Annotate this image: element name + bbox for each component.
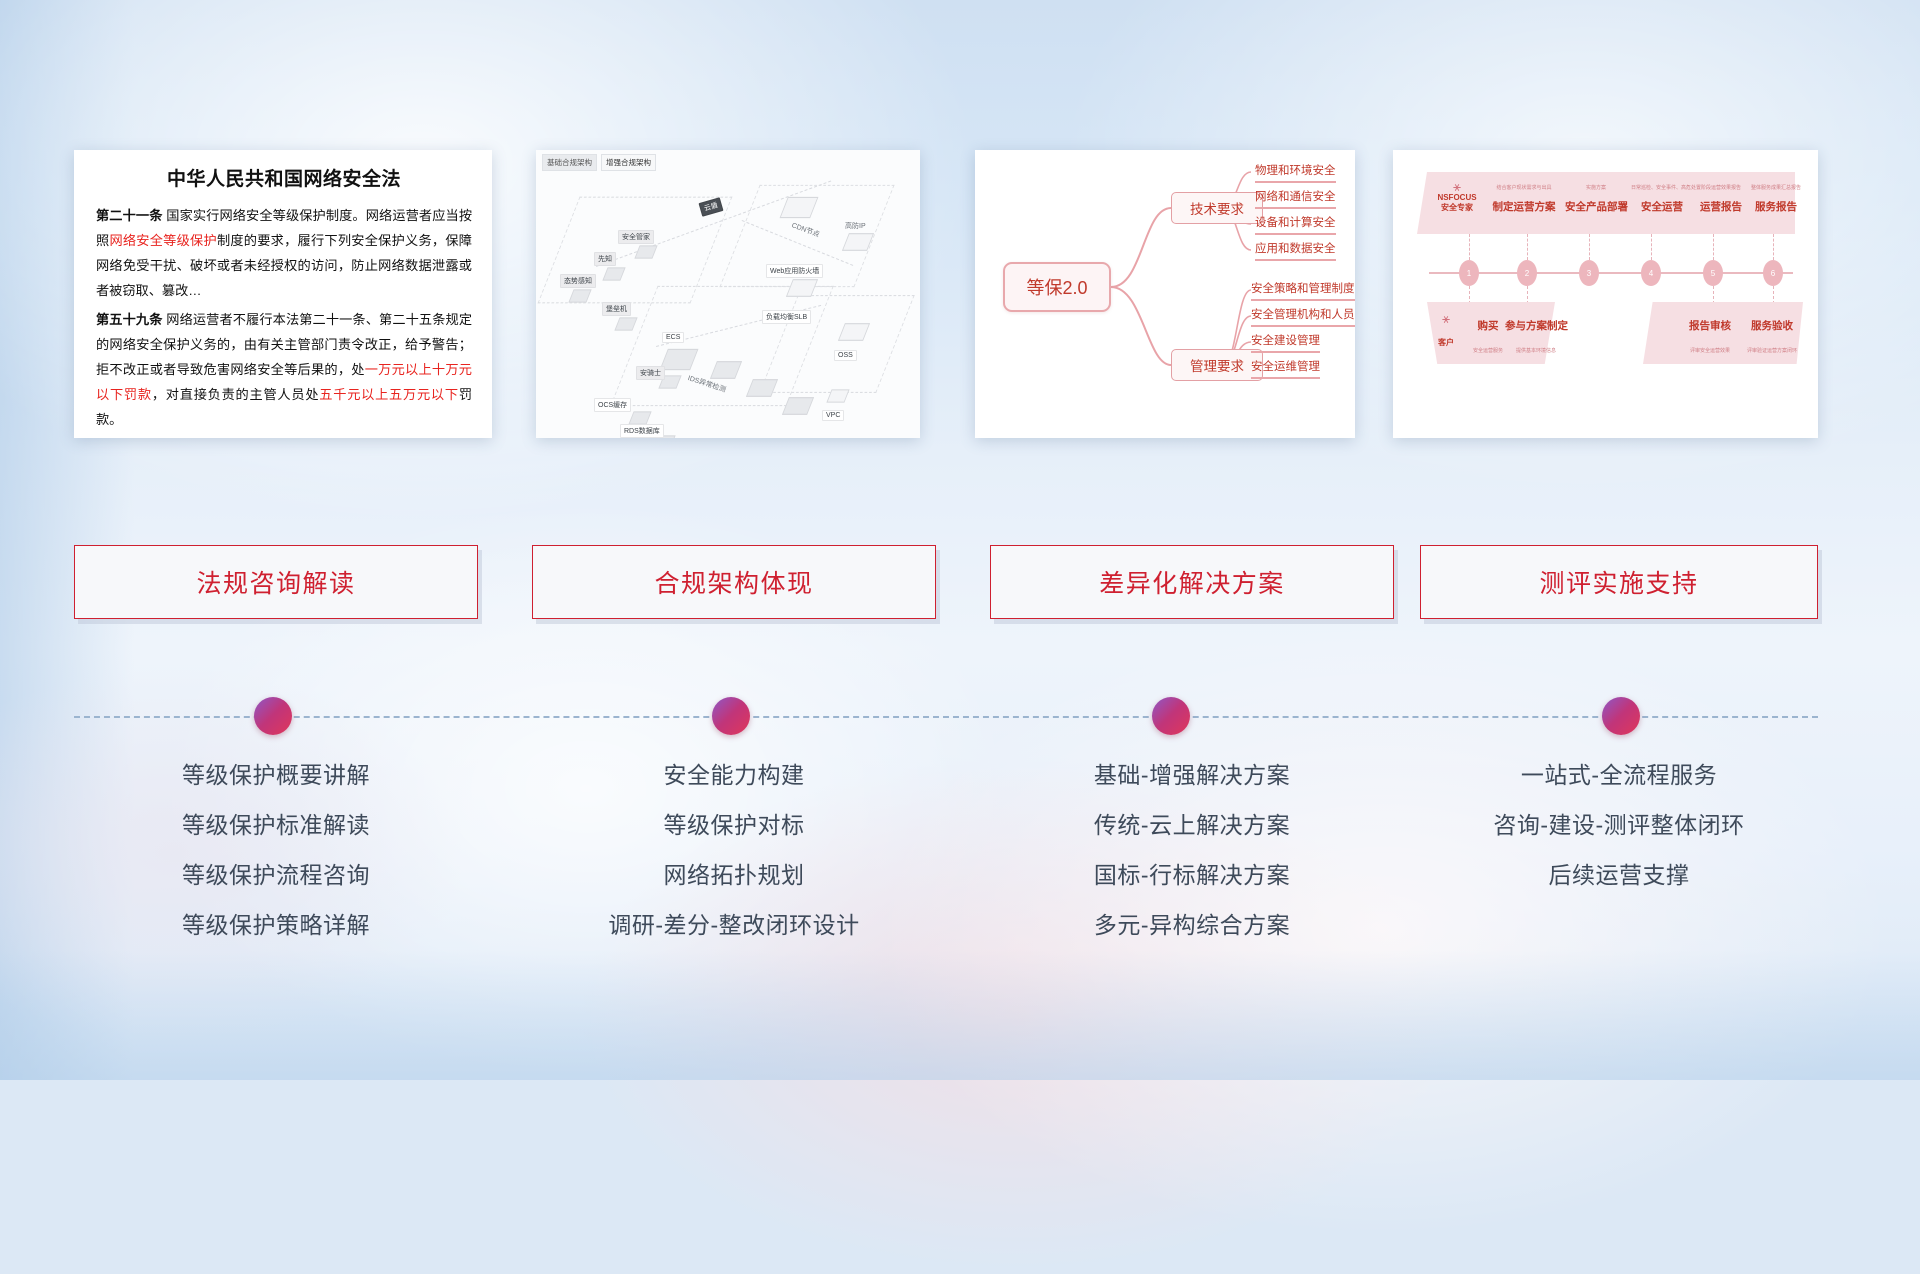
card-cybersecurity-law[interactable]: 中华人民共和国网络安全法 第二十一条 国家实行网络安全等级保护制度。网络运营者应… (74, 150, 492, 438)
operations-dash-5 (1713, 234, 1714, 260)
operations-top-step-2-main: 安全产品部署 (1565, 199, 1627, 214)
detail-column-4: 一站式-全流程服务 咨询-建设-测评整体闭环 后续运营支撑 (1420, 750, 1818, 900)
list-item: 传统-云上解决方案 (990, 800, 1394, 850)
operations-top-step-4: 阶段运营效果报告 运营报告 (1693, 184, 1749, 214)
detail-column-3: 基础-增强解决方案 传统-云上解决方案 国标-行标解决方案 多元-异构综合方案 (990, 750, 1394, 950)
detail-column-1: 等级保护概要讲解 等级保护标准解读 等级保护流程咨询 等级保护策略详解 (74, 750, 478, 950)
architecture-shape-group-c (782, 397, 814, 415)
operations-top-step-1-main: 制定运营方案 (1489, 199, 1559, 214)
architecture-node-anqishi: 安骑士 (636, 366, 665, 380)
operations-dash-2 (1527, 234, 1528, 260)
architecture-node-oss: OSS (834, 350, 857, 361)
list-item: 等级保护标准解读 (74, 800, 478, 850)
timeline-node-2[interactable] (712, 697, 750, 735)
screenshot-card-row: 中华人民共和国网络安全法 第二十一条 国家实行网络安全等级保护制度。网络运营者应… (0, 150, 1920, 440)
law-document: 中华人民共和国网络安全法 第二十一条 国家实行网络安全等级保护制度。网络运营者应… (74, 150, 492, 432)
operations-top-step-4-main: 运营报告 (1693, 199, 1749, 214)
operations-dash-6 (1773, 234, 1774, 260)
architecture-node-situation: 态势感知 (560, 274, 596, 288)
operations-top-step-5: 整体服务成果汇总报告 服务报告 (1749, 184, 1803, 214)
list-item: 等级保护流程咨询 (74, 850, 478, 900)
mindmap-leaf-physical: 物理和环境安全 (1255, 162, 1336, 183)
operations-top-step-1: 结合客户现状需求与出具 制定运营方案 (1489, 184, 1559, 214)
list-item: 咨询-建设-测评整体闭环 (1420, 800, 1818, 850)
operations-bottom-step-3-main: 报告审核 (1681, 318, 1739, 333)
architecture-node-butler: 安全管家 (618, 230, 654, 244)
mindmap-branch-technical: 技术要求 (1171, 192, 1263, 224)
operations-top-step-2-sub: 实施方案 (1565, 184, 1627, 191)
operations-bottom-step-3-sub: 评审安全运营效果 (1681, 347, 1739, 354)
mindmap-leaf-policy: 安全策略和管理制度 (1251, 280, 1355, 301)
customer-role-label: 客户 (1427, 337, 1465, 348)
law-article-59-label: 第五十九条 (96, 312, 163, 327)
timeline-dashed-line (74, 716, 1818, 718)
section-title-box-1[interactable]: 法规咨询解读 (74, 545, 478, 619)
card-compliance-architecture[interactable]: 基础合规架构 增强合规架构 态势感知 先知 安全管家 (536, 150, 920, 438)
operations-bottom-step-2-main: 参与方案制定 (1505, 318, 1567, 333)
operations-expert-role: ⚹ NSFOCUS 安全专家 (1427, 180, 1487, 213)
list-item: 后续运营支撑 (1420, 850, 1818, 900)
mindmap-root-node: 等保2.0 (1003, 262, 1111, 312)
architecture-node-vpc: VPC (822, 410, 844, 421)
operations-top-step-2: 实施方案 安全产品部署 (1565, 184, 1627, 214)
operations-bubble-3: 3 (1579, 260, 1599, 286)
operations-bubble-2: 2 (1517, 260, 1537, 286)
architecture-shape-ocs (628, 411, 651, 424)
mindmap: 等保2.0 技术要求 管理要求 物理和环境安全 网络和通信安全 设备和计算安全 … (975, 150, 1355, 438)
operations-top-step-3: 日常巡检、安全事件、高危处置 安全运营 (1631, 184, 1693, 214)
mindmap-leaf-org: 安全管理机构和人员 (1251, 306, 1355, 327)
list-item: 等级保护对标 (532, 800, 936, 850)
operations-top-step-1-sub: 结合客户现状需求与出具 (1489, 184, 1559, 191)
list-item: 等级保护策略详解 (74, 900, 478, 950)
architecture-node-rds: RDS数据库 (620, 424, 664, 438)
section-title-4: 测评实施支持 (1539, 564, 1698, 600)
list-item: 一站式-全流程服务 (1420, 750, 1818, 800)
section-title-3: 差异化解决方案 (1099, 564, 1285, 600)
operations-dash-1 (1469, 234, 1470, 260)
operations-dash-8 (1527, 286, 1528, 304)
list-item: 多元-异构综合方案 (990, 900, 1394, 950)
operations-dash-3 (1589, 234, 1590, 260)
list-item: 网络拓扑规划 (532, 850, 936, 900)
architecture-tab-group[interactable]: 基础合规架构 增强合规架构 (542, 154, 656, 171)
law-title: 中华人民共和国网络安全法 (96, 164, 472, 191)
list-item: 安全能力构建 (532, 750, 936, 800)
law-article-59-text-2: ，对直接负责的主管人员处 (152, 387, 319, 402)
operations-bottom-step-2-sub: 提供基本环境信息 (1505, 347, 1567, 354)
timeline-node-1[interactable] (254, 697, 292, 735)
architecture-node-bastion: 堡垒机 (602, 302, 631, 316)
law-article-59-highlight-2: 五千元以上五万元以下 (319, 387, 459, 402)
mindmap-branch-management: 管理要求 (1171, 349, 1263, 381)
operations-top-step-4-sub: 阶段运营效果报告 (1693, 184, 1749, 191)
operations-customer-role: ⚹ 客户 (1427, 312, 1465, 348)
card-assessment-timeline[interactable]: ⚹ NSFOCUS 安全专家 结合客户现状需求与出具 制定运营方案 实施方案 安… (1393, 150, 1818, 438)
operations-bottom-step-4-main: 服务验收 (1741, 318, 1803, 333)
section-title-box-4[interactable]: 测评实施支持 (1420, 545, 1818, 619)
architecture-node-xianzhi: 先知 (594, 252, 616, 266)
list-item: 国标-行标解决方案 (990, 850, 1394, 900)
operations-top-step-3-main: 安全运营 (1631, 199, 1693, 214)
mindmap-leaf-maintenance: 安全运维管理 (1251, 358, 1320, 379)
operations-dash-9 (1713, 286, 1714, 304)
timeline-node-3[interactable] (1152, 697, 1190, 735)
operations-bubble-5: 5 (1703, 260, 1723, 286)
architecture-node-waf: Web应用防火墙 (766, 264, 823, 278)
section-title-box-3[interactable]: 差异化解决方案 (990, 545, 1394, 619)
operations-diagram: ⚹ NSFOCUS 安全专家 结合客户现状需求与出具 制定运营方案 实施方案 安… (1393, 150, 1818, 438)
tab-enhanced-architecture[interactable]: 增强合规架构 (601, 154, 656, 171)
list-item: 基础-增强解决方案 (990, 750, 1394, 800)
expert-brand: NSFOCUS (1427, 193, 1487, 202)
law-article-21-label: 第二十一条 (96, 208, 163, 223)
mindmap-leaf-device: 设备和计算安全 (1255, 214, 1336, 235)
operations-bottom-step-3: 报告审核 评审安全运营效果 (1681, 318, 1739, 354)
section-title-2: 合规架构体现 (654, 564, 813, 600)
operations-bubble-4: 4 (1641, 260, 1661, 286)
architecture-node-ocs: OCS缓存 (594, 398, 631, 412)
list-item: 等级保护概要讲解 (74, 750, 478, 800)
operations-center-line (1429, 272, 1793, 274)
architecture-node-slb: 负载均衡SLB (762, 310, 811, 324)
mindmap-leaf-application: 应用和数据安全 (1255, 240, 1336, 261)
operations-bottom-step-4-sub: 评审验证运营方案闭环 (1741, 347, 1803, 354)
operations-top-step-3-sub: 日常巡检、安全事件、高危处置 (1631, 184, 1693, 191)
operations-dash-10 (1773, 286, 1774, 304)
architecture-diagram: 基础合规架构 增强合规架构 态势感知 先知 安全管家 (536, 150, 920, 438)
infographic-page: 中华人民共和国网络安全法 第二十一条 国家实行网络安全等级保护制度。网络运营者应… (0, 0, 1920, 1080)
customer-person-icon: ⚹ (1427, 312, 1465, 325)
timeline (0, 697, 1920, 737)
architecture-node-ddos: 高防IP (842, 220, 869, 232)
architecture-shape-vpc (826, 389, 849, 402)
expert-person-icon: ⚹ (1427, 180, 1487, 193)
detail-column-2: 安全能力构建 等级保护对标 网络拓扑规划 调研-差分-整改闭环设计 (532, 750, 936, 950)
mindmap-leaf-construction: 安全建设管理 (1251, 332, 1320, 353)
operations-bubble-6: 6 (1763, 260, 1783, 286)
operations-bottom-step-2: 参与方案制定 提供基本环境信息 (1505, 318, 1567, 354)
operations-dash-7 (1469, 286, 1470, 304)
architecture-shape-bastion (614, 317, 637, 330)
section-title-box-2[interactable]: 合规架构体现 (532, 545, 936, 619)
tab-basic-architecture[interactable]: 基础合规架构 (542, 154, 597, 171)
operations-bottom-step-4: 服务验收 评审验证运营方案闭环 (1741, 318, 1803, 354)
mindmap-leaf-network: 网络和通信安全 (1255, 188, 1336, 209)
operations-top-step-5-sub: 整体服务成果汇总报告 (1749, 184, 1803, 191)
section-title-1: 法规咨询解读 (196, 564, 355, 600)
list-item: 调研-差分-整改闭环设计 (532, 900, 936, 950)
architecture-node-ecs: ECS (662, 332, 684, 343)
operations-bubble-1: 1 (1459, 260, 1479, 286)
timeline-node-4[interactable] (1602, 697, 1640, 735)
operations-top-step-5-main: 服务报告 (1749, 199, 1803, 214)
law-body: 第二十一条 国家实行网络安全等级保护制度。网络运营者应当按照网络安全等级保护制度… (96, 203, 472, 432)
card-dengbao-mindmap[interactable]: 等保2.0 技术要求 管理要求 物理和环境安全 网络和通信安全 设备和计算安全 … (975, 150, 1355, 438)
operations-dash-4 (1651, 234, 1652, 260)
law-article-21-highlight: 网络安全等级保护 (109, 233, 217, 248)
expert-role-label: 安全专家 (1427, 202, 1487, 213)
